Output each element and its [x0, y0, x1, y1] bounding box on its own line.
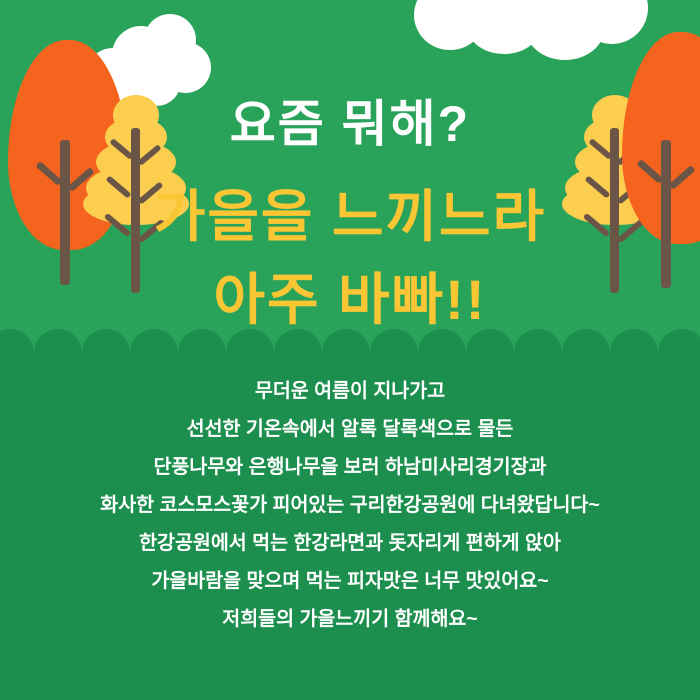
body-line: 화사한 코스모스꽃가 피어있는 구리한강공원에 다녀왔답니다~: [0, 486, 700, 524]
body-line: 무더운 여름이 지나가고: [0, 372, 700, 410]
headline-answer-line-2: 아주 바빠!!: [0, 268, 700, 332]
body-line: 가을바람을 맞으며 먹는 피자맛은 너무 맛있어요~: [0, 562, 700, 600]
body-text-block: 무더운 여름이 지나가고 선선한 기온속에서 알록 달록색으로 물든 단풍나무와…: [0, 372, 700, 638]
cloud-icon-right: [414, 0, 648, 70]
body-line: 저희들의 가을느끼기 함께해요~: [0, 600, 700, 638]
body-line: 단풍나무와 은행나무을 보러 하남미사리경기장과: [0, 448, 700, 486]
headline-question: 요즘 뭐해?: [0, 96, 700, 154]
body-line: 선선한 기온속에서 알록 달록색으로 물든: [0, 410, 700, 448]
autumn-greeting-card: 요즘 뭐해? 가을을 느끼느라 아주 바빠!! 무더운 여름이 지나가고 선선한…: [0, 0, 700, 700]
body-line: 한강공원에서 먹는 한강라면과 돗자리게 편하게 앉아: [0, 524, 700, 562]
headline-answer-line-1: 가을을 느끼느라: [0, 185, 700, 249]
